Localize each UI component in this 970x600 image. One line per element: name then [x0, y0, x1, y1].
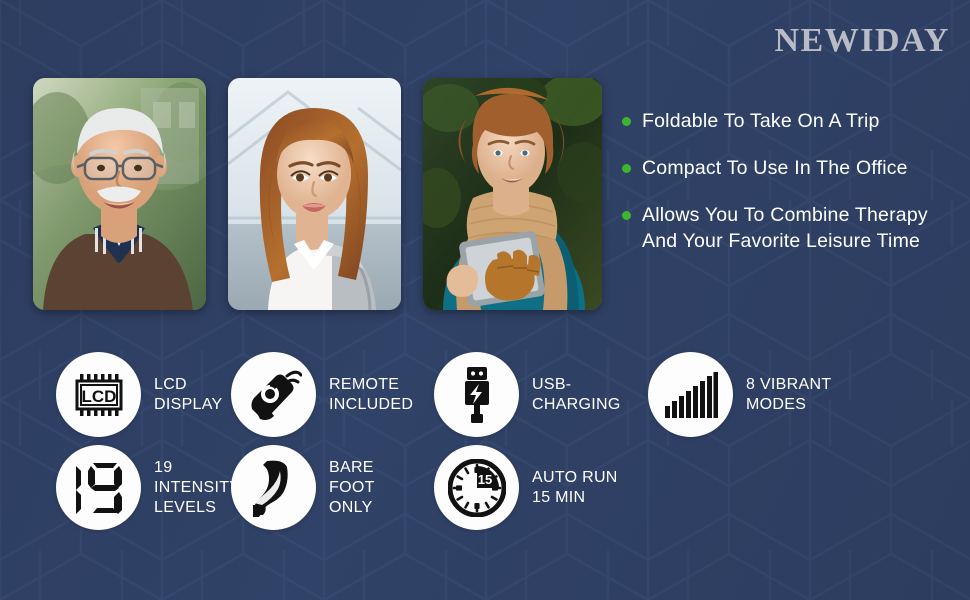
- elderly-man-illustration: [33, 78, 206, 310]
- feature-remote-included: REMOTE INCLUDED: [215, 352, 422, 437]
- remote-signal-icon: [231, 352, 316, 437]
- bullet-dot-icon: [622, 211, 631, 220]
- feature-empty-slot: [634, 445, 884, 530]
- bullet-dot-icon: [622, 164, 631, 173]
- lcd-chip-icon: LCD: [56, 352, 141, 437]
- mature-woman-tablet-illustration: [423, 78, 602, 310]
- feature-bare-foot-only: BARE FOOT ONLY: [215, 445, 422, 530]
- feature-label-line1: USB-: [532, 376, 571, 393]
- feature-intensity-levels: 19 INTENSITY LEVELS: [0, 445, 215, 530]
- photo-elderly-man: [33, 78, 206, 310]
- feature-grid: LCD LCD DISPLAY: [0, 352, 970, 530]
- feature-label-line1: REMOTE: [329, 376, 399, 393]
- feature-label-line1: LCD: [154, 376, 187, 393]
- sock-foot-icon: [231, 445, 316, 530]
- feature-vibrant-modes: 8 VIBRANT MODES: [634, 352, 884, 437]
- feature-bullet-list: Foldable To Take On A Trip Compact To Us…: [622, 108, 962, 275]
- clock-15-icon: 15: [434, 445, 519, 530]
- feature-row-2: 19 INTENSITY LEVELS BARE FOOT ONLY: [0, 445, 970, 530]
- bullet-item: Allows You To Combine Therapy And Your F…: [622, 202, 962, 254]
- feature-label-line1: BARE FOOT: [329, 459, 375, 496]
- usb-charging-icon: [434, 352, 519, 437]
- feature-label-line2: CHARGING: [532, 395, 621, 415]
- feature-label-line1: 8 VIBRANT: [746, 376, 831, 393]
- feature-label: USB- CHARGING: [532, 375, 621, 415]
- bullet-dot-icon: [622, 117, 631, 126]
- bullet-text: Allows You To Combine Therapy And Your F…: [642, 202, 962, 254]
- feature-label: AUTO RUN 15 MIN: [532, 468, 618, 508]
- photo-mature-woman-tablet: [423, 78, 602, 310]
- feature-label-line2: DISPLAY: [154, 395, 223, 415]
- feature-label: 8 VIBRANT MODES: [746, 375, 831, 415]
- bullet-item: Foldable To Take On A Trip: [622, 108, 962, 134]
- feature-label: REMOTE INCLUDED: [329, 375, 413, 415]
- seven-segment-19-icon: [56, 445, 141, 530]
- feature-label-line2: INCLUDED: [329, 395, 413, 415]
- bullet-text: Foldable To Take On A Trip: [642, 108, 880, 134]
- lcd-icon-text: LCD: [81, 387, 116, 406]
- feature-label-line2: 15 MIN: [532, 488, 618, 508]
- clock-icon-text: 15: [477, 472, 491, 487]
- bullet-text: Compact To Use In The Office: [642, 155, 908, 181]
- feature-lcd-display: LCD LCD DISPLAY: [0, 352, 215, 437]
- feature-label-line2: ONLY: [329, 498, 422, 518]
- young-woman-illustration: [228, 78, 401, 310]
- signal-bars-icon: [648, 352, 733, 437]
- feature-label: BARE FOOT ONLY: [329, 458, 422, 518]
- feature-row-1: LCD LCD DISPLAY: [0, 352, 970, 437]
- feature-usb-charging: USB- CHARGING: [422, 352, 634, 437]
- feature-label-line2: MODES: [746, 395, 831, 415]
- brand-logo: NEWIDAY: [774, 22, 950, 60]
- bullet-item: Compact To Use In The Office: [622, 155, 962, 181]
- feature-auto-run: 15 AUTO RUN 15 MIN: [422, 445, 634, 530]
- feature-label: LCD DISPLAY: [154, 375, 223, 415]
- photo-young-woman: [228, 78, 401, 310]
- feature-label-line1: AUTO RUN: [532, 469, 618, 486]
